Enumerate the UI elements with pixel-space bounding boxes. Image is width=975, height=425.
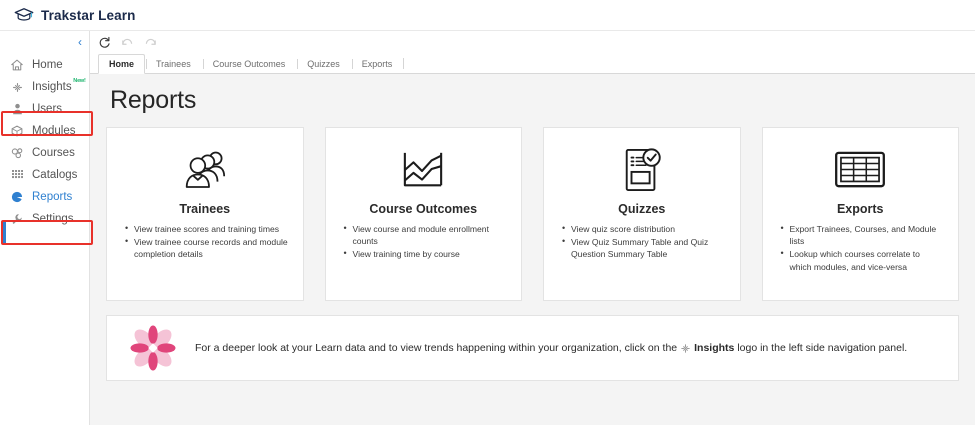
card-title: Quizzes bbox=[618, 202, 665, 216]
insights-small-icon bbox=[680, 343, 691, 354]
card-bullets: Export Trainees, Courses, and Module lis… bbox=[777, 223, 945, 274]
sidebar-item-label: Users bbox=[32, 103, 62, 115]
sidebar-item-settings[interactable]: Settings bbox=[0, 208, 89, 230]
line-chart-icon bbox=[400, 144, 446, 196]
redo-icon[interactable] bbox=[144, 36, 157, 49]
pie-chart-icon bbox=[10, 191, 24, 203]
insights-icon bbox=[10, 81, 24, 94]
card-bullet: Lookup which courses correlate to which … bbox=[781, 248, 945, 272]
card-course-outcomes[interactable]: Course Outcomes View course and module e… bbox=[325, 127, 523, 301]
card-trainees[interactable]: Trainees View trainee scores and trainin… bbox=[106, 127, 304, 301]
card-bullet: View course and module enrollment counts bbox=[344, 223, 508, 247]
app-shell: ‹ Home Insights New! bbox=[0, 31, 975, 425]
toolbar bbox=[90, 31, 975, 54]
tab-quizzes[interactable]: Quizzes bbox=[296, 54, 351, 73]
report-cards: Trainees View trainee scores and trainin… bbox=[106, 127, 959, 301]
sidebar-item-users[interactable]: Users bbox=[0, 98, 89, 120]
tab-trainees[interactable]: Trainees bbox=[145, 54, 202, 73]
sidebar-item-modules[interactable]: Modules bbox=[0, 120, 89, 142]
user-icon bbox=[10, 103, 24, 115]
card-bullet: View Quiz Summary Table and Quiz Questio… bbox=[562, 236, 726, 260]
sidebar-item-catalogs[interactable]: Catalogs bbox=[0, 164, 89, 186]
trainees-people-icon bbox=[180, 144, 230, 196]
cube-icon bbox=[10, 125, 24, 137]
sidebar-item-label: Catalogs bbox=[32, 169, 77, 181]
card-exports[interactable]: Exports Export Trainees, Courses, and Mo… bbox=[762, 127, 960, 301]
sidebar-item-label: Reports bbox=[32, 191, 72, 203]
new-badge: New! bbox=[73, 78, 85, 84]
sidebar-item-label: Insights New! bbox=[32, 81, 72, 93]
table-grid-icon bbox=[834, 144, 886, 196]
home-icon bbox=[10, 59, 24, 71]
sidebar: ‹ Home Insights New! bbox=[0, 31, 90, 425]
tab-exports[interactable]: Exports bbox=[351, 54, 404, 73]
banner-text-after: logo in the left side navigation panel. bbox=[737, 342, 907, 354]
card-bullet: Export Trainees, Courses, and Module lis… bbox=[781, 223, 945, 247]
wrench-icon bbox=[10, 213, 24, 225]
sidebar-nav: Home Insights New! Users bbox=[0, 54, 89, 230]
brand-name: Trakstar Learn bbox=[41, 8, 135, 23]
card-bullet: View training time by course bbox=[344, 248, 508, 260]
sidebar-item-reports[interactable]: Reports bbox=[0, 186, 89, 208]
card-bullets: View quiz score distribution View Quiz S… bbox=[558, 223, 726, 262]
tab-bar: Home Trainees Course Outcomes Quizzes Ex… bbox=[90, 54, 975, 74]
sidebar-item-label: Settings bbox=[32, 213, 74, 225]
grid-icon bbox=[10, 170, 24, 181]
card-bullet: View trainee scores and training times bbox=[125, 223, 289, 235]
card-title: Exports bbox=[837, 202, 884, 216]
tab-course-outcomes[interactable]: Course Outcomes bbox=[202, 54, 297, 73]
chevron-left-icon[interactable]: ‹ bbox=[76, 35, 84, 49]
card-bullet: View trainee course records and module c… bbox=[125, 236, 289, 260]
card-bullets: View trainee scores and training times V… bbox=[121, 223, 289, 262]
card-quizzes[interactable]: Quizzes View quiz score distribution Vie… bbox=[543, 127, 741, 301]
card-bullet: View quiz score distribution bbox=[562, 223, 726, 235]
card-bullets: View course and module enrollment counts… bbox=[340, 223, 508, 262]
insights-link[interactable]: Insights bbox=[694, 342, 734, 354]
sidebar-item-label: Courses bbox=[32, 147, 75, 159]
card-title: Course Outcomes bbox=[369, 202, 477, 216]
main-area: Home Trainees Course Outcomes Quizzes Ex… bbox=[90, 31, 975, 425]
content-area: Reports Tr bbox=[90, 74, 975, 425]
brand-logo[interactable]: Trakstar Learn bbox=[14, 7, 135, 23]
sidebar-item-text: Insights bbox=[32, 81, 72, 93]
banner-text: For a deeper look at your Learn data and… bbox=[195, 342, 907, 354]
courses-icon bbox=[10, 147, 24, 159]
brand-bar: Trakstar Learn bbox=[0, 0, 975, 31]
tab-divider bbox=[403, 58, 404, 69]
sidebar-item-label: Home bbox=[32, 59, 63, 71]
tab-home[interactable]: Home bbox=[98, 54, 145, 74]
page-title: Reports bbox=[106, 84, 959, 127]
quiz-checklist-icon bbox=[621, 144, 663, 196]
sidebar-item-label: Modules bbox=[32, 125, 75, 137]
sidebar-item-courses[interactable]: Courses bbox=[0, 142, 89, 164]
sidebar-item-home[interactable]: Home bbox=[0, 54, 89, 76]
sidebar-item-insights[interactable]: Insights New! bbox=[0, 76, 89, 98]
insights-flower-icon bbox=[125, 323, 181, 373]
insights-promo-banner: For a deeper look at your Learn data and… bbox=[106, 315, 959, 381]
undo-icon[interactable] bbox=[121, 36, 134, 49]
banner-text-before: For a deeper look at your Learn data and… bbox=[195, 342, 677, 354]
sidebar-collapse-row: ‹ bbox=[0, 31, 89, 53]
refresh-icon[interactable] bbox=[98, 36, 111, 49]
graduation-cap-icon bbox=[14, 7, 34, 23]
card-title: Trainees bbox=[179, 202, 230, 216]
